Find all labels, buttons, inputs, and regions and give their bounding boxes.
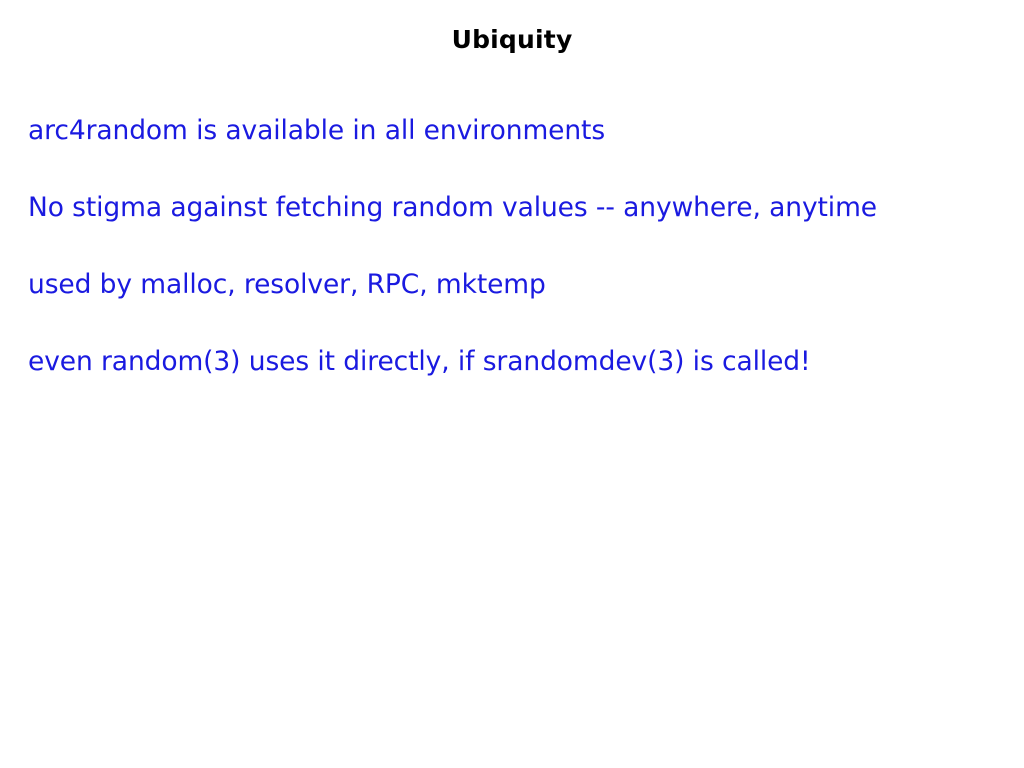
slide-body: arc4random is available in all environme… [28, 118, 988, 383]
body-line: used by malloc, resolver, RPC, mktemp [28, 272, 988, 306]
presentation-slide: Ubiquity arc4random is available in all … [0, 0, 1024, 768]
page-title: Ubiquity [0, 26, 1024, 54]
body-line: even random(3) uses it directly, if sran… [28, 349, 988, 383]
body-line: No stigma against fetching random values… [28, 195, 988, 229]
body-line: arc4random is available in all environme… [28, 118, 988, 152]
